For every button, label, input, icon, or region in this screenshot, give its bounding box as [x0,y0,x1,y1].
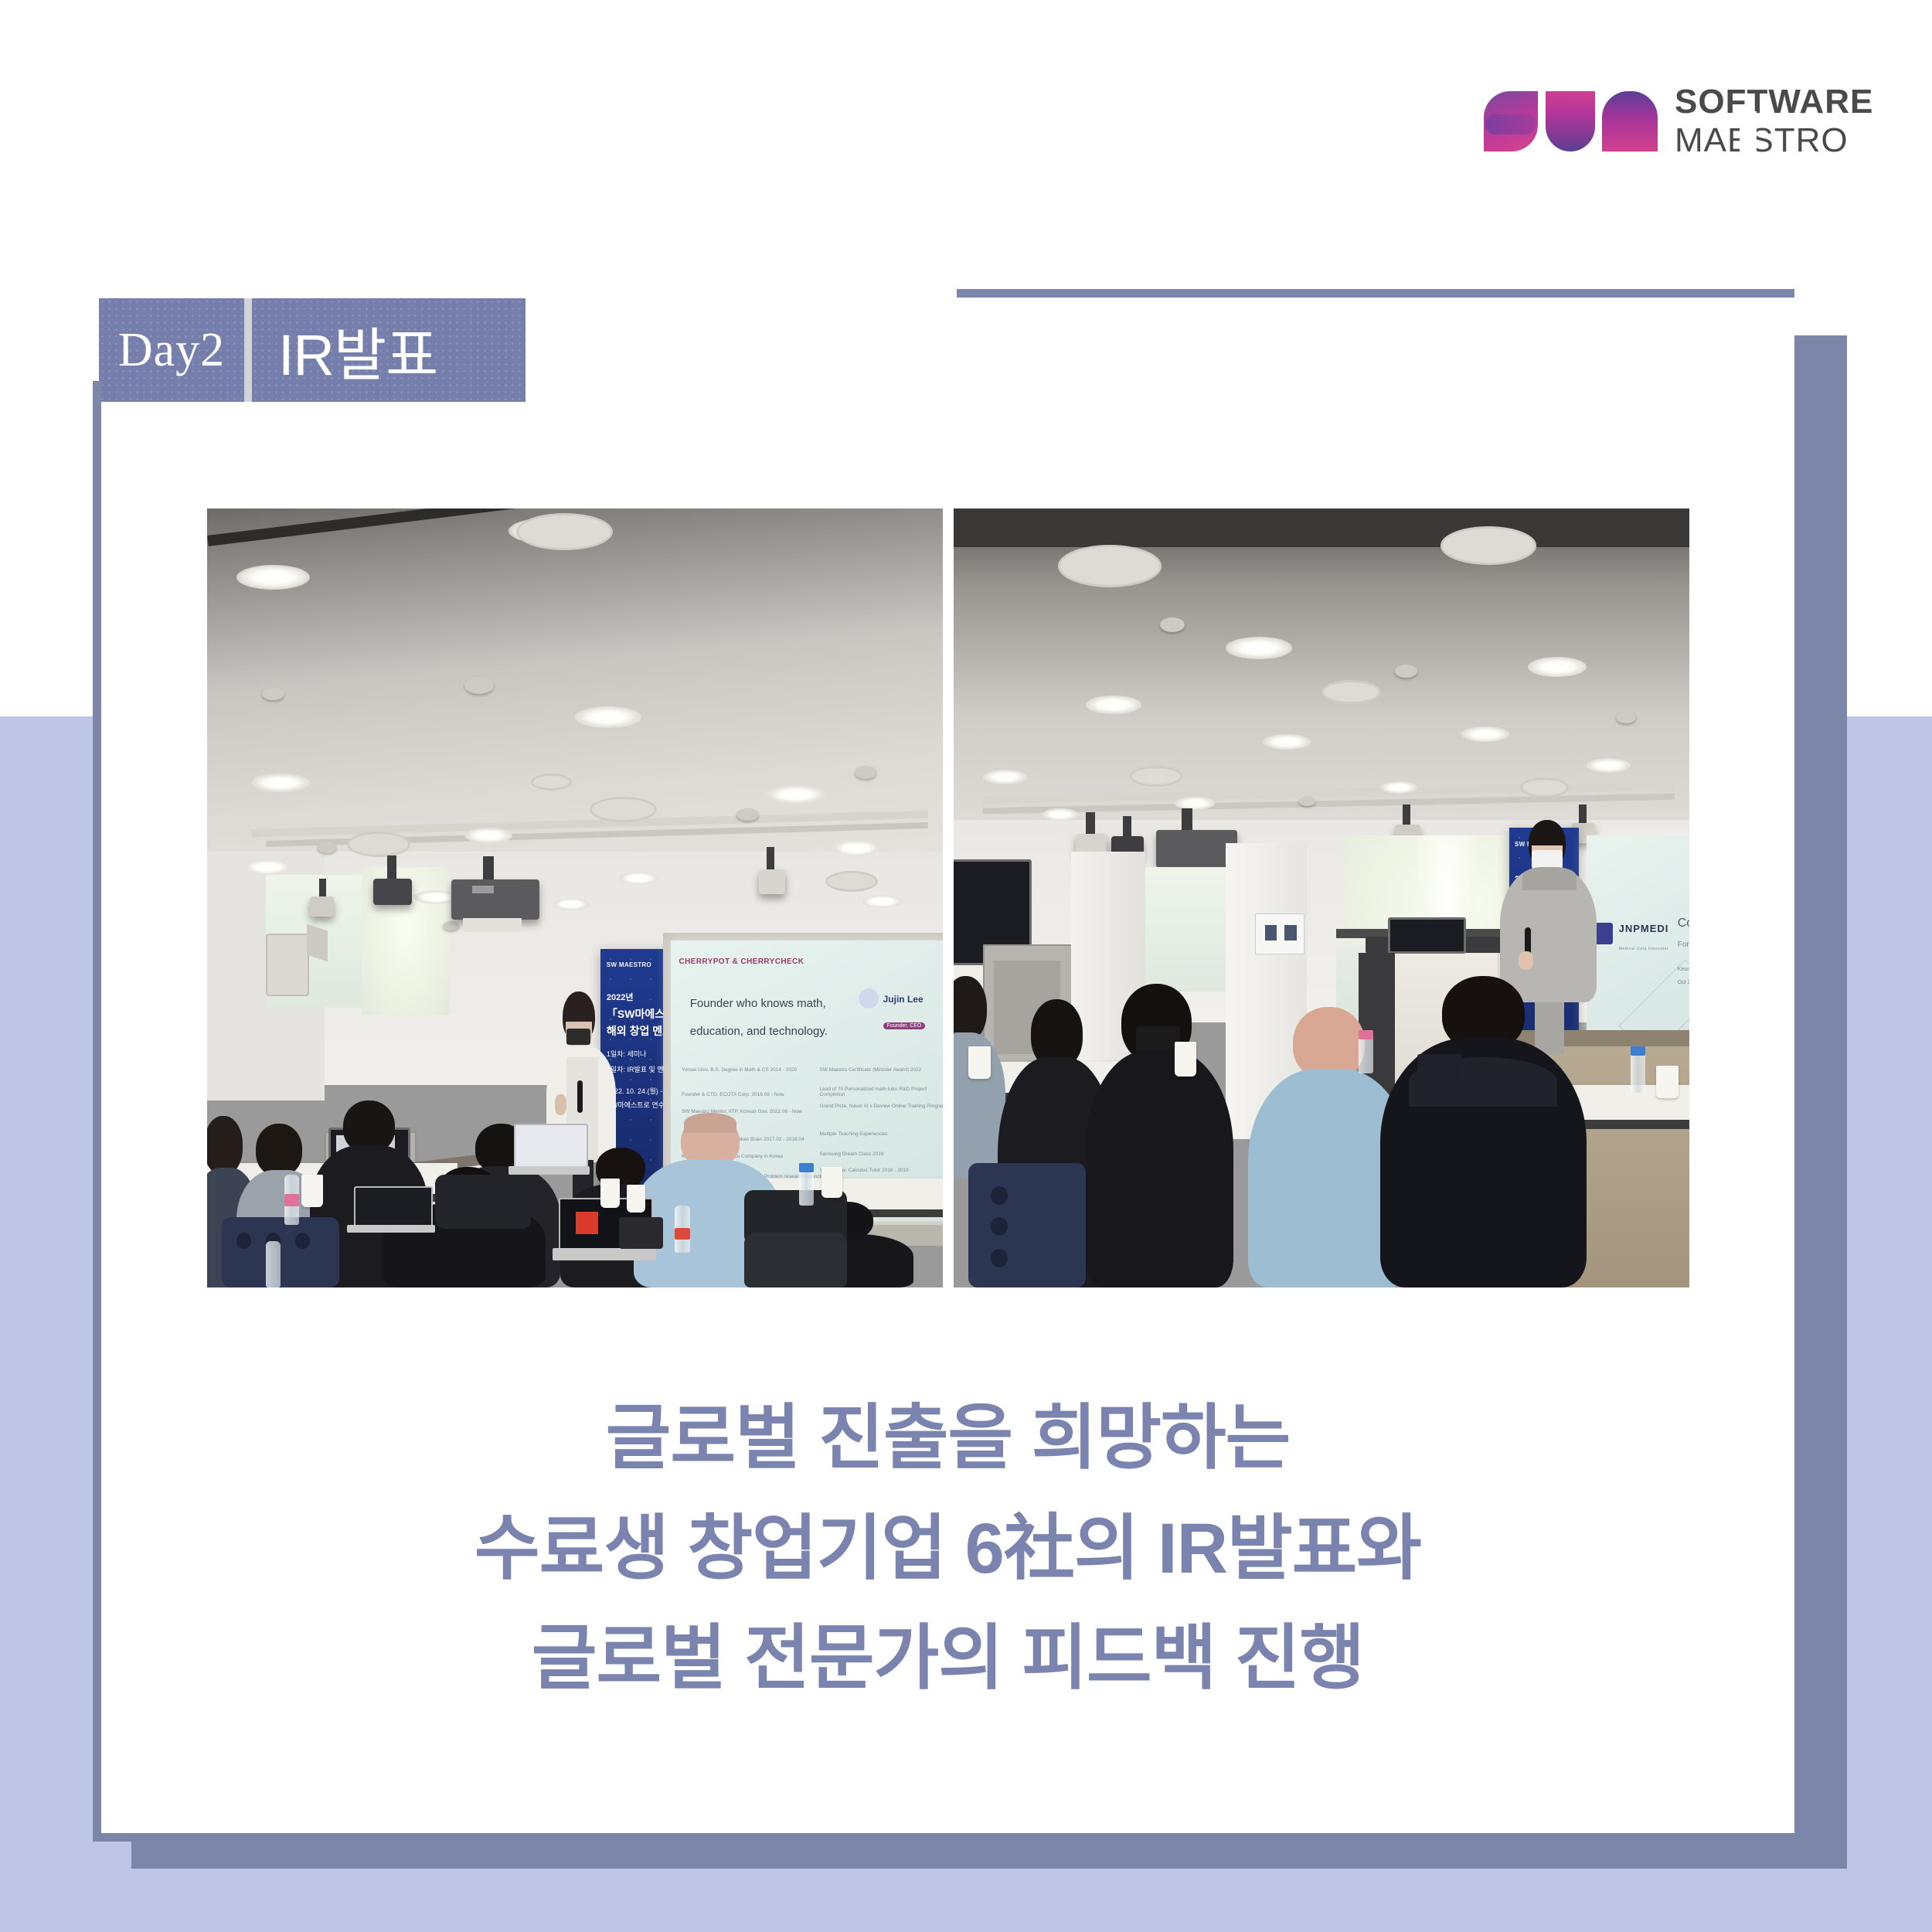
photo-right-ir-presentation: SW MAESTRO 2022년 「SW마에스트로」 해외 창업 멘토링 1일차… [954,509,1689,1287]
caption-line-3: 글로벌 전문가의 피드백 진행 [101,1604,1794,1714]
poster-canvas: SOFTWARE MAESTRO Day2 IR발표 [0,0,1932,1932]
photo-gallery: SW MAESTRO 2022년 「SW마에스트로」 해외 창업 멘토링 1일차… [207,509,1722,1287]
logo-wordmark-line1: SOFTWARE [1675,85,1873,119]
frame-line-left [93,381,101,1842]
slide-speaker-tag: Founder, CEO [883,1022,926,1029]
logo-glyph-s-bar [1485,114,1536,134]
day-badge-title: IR발표 [252,309,437,392]
logo-glyph-s [1484,91,1538,151]
audience-masked-right [1086,984,1233,1287]
day-badge-divider [244,298,252,402]
logo-wordmark: SOFTWARE MAESTRO [1675,85,1873,158]
audience-hooded-right [1380,976,1587,1287]
caption-line-2: 수료생 창업기업 6社의 IR발표와 [101,1494,1794,1604]
logo-wordmark-line2: MAESTRO [1675,124,1873,158]
frame-bar-right [1794,335,1847,1869]
frame-bar-bottom [131,1833,1847,1869]
sw-maestro-logo: SOFTWARE MAESTRO [1484,85,1873,158]
sw-logo-mark-icon [1484,91,1658,151]
caption-line-1: 글로벌 진출을 희망하는 [101,1383,1794,1494]
day-badge: Day2 IR발표 [99,298,526,402]
caption-block: 글로벌 진출을 희망하는 수료생 창업기업 6社의 IR발표와 글로벌 전문가의… [101,1383,1794,1714]
frame-line-bottom [93,1833,139,1842]
logo-glyph-n-cut [1740,111,1757,151]
frame-line-top [957,289,1794,298]
slide-right: JNPMEDI Medical Data Innovator Company I… [1587,835,1689,1053]
logo-glyph-n [1602,91,1658,151]
photo-left-ir-presentation: SW MAESTRO 2022년 「SW마에스트로」 해외 창업 멘토링 1일차… [207,509,943,1287]
day-badge-day-label: Day2 [99,323,244,378]
